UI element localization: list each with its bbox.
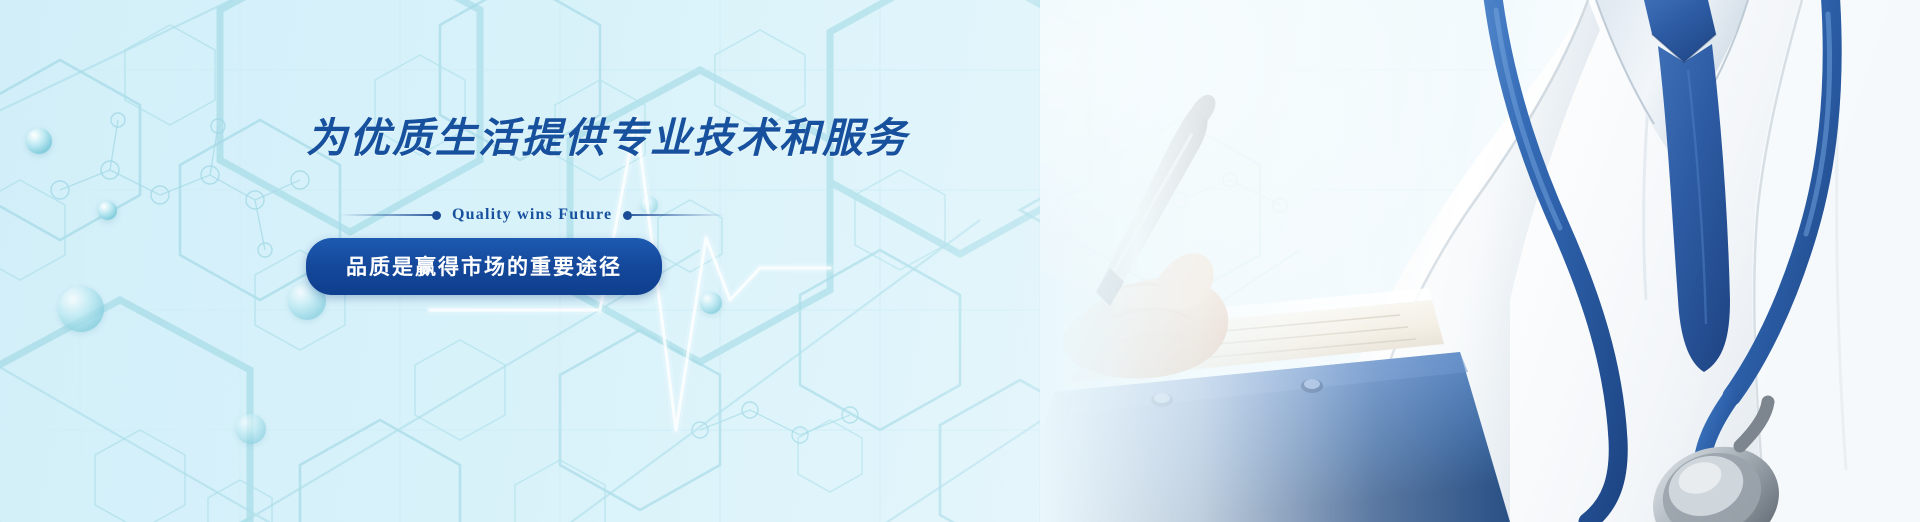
decor-sphere-2 [98, 201, 117, 220]
bullet-dot-right-icon [623, 211, 632, 220]
decor-sphere-6 [236, 414, 266, 444]
divider-rule-left [340, 214, 432, 216]
decor-sphere-3 [58, 286, 104, 332]
page-title: 为优质生活提供专业技术和服务 [306, 118, 1066, 159]
doctor-photo [1040, 0, 1920, 522]
bullet-dot-left-icon [432, 211, 441, 220]
divider-rule-right [632, 214, 724, 216]
tagline-divider: Quality wins Future [340, 206, 752, 224]
decor-sphere-5 [700, 292, 722, 314]
banner-content: 为优质生活提供专业技术和服务 Quality wins Future 品质是赢得… [306, 118, 1066, 295]
decor-sphere-1 [26, 128, 52, 154]
slogan-button[interactable]: 品质是赢得市场的重要途径 [306, 238, 662, 295]
medical-hero-banner: 为优质生活提供专业技术和服务 Quality wins Future 品质是赢得… [0, 0, 1920, 522]
english-tagline: Quality wins Future [441, 206, 623, 224]
